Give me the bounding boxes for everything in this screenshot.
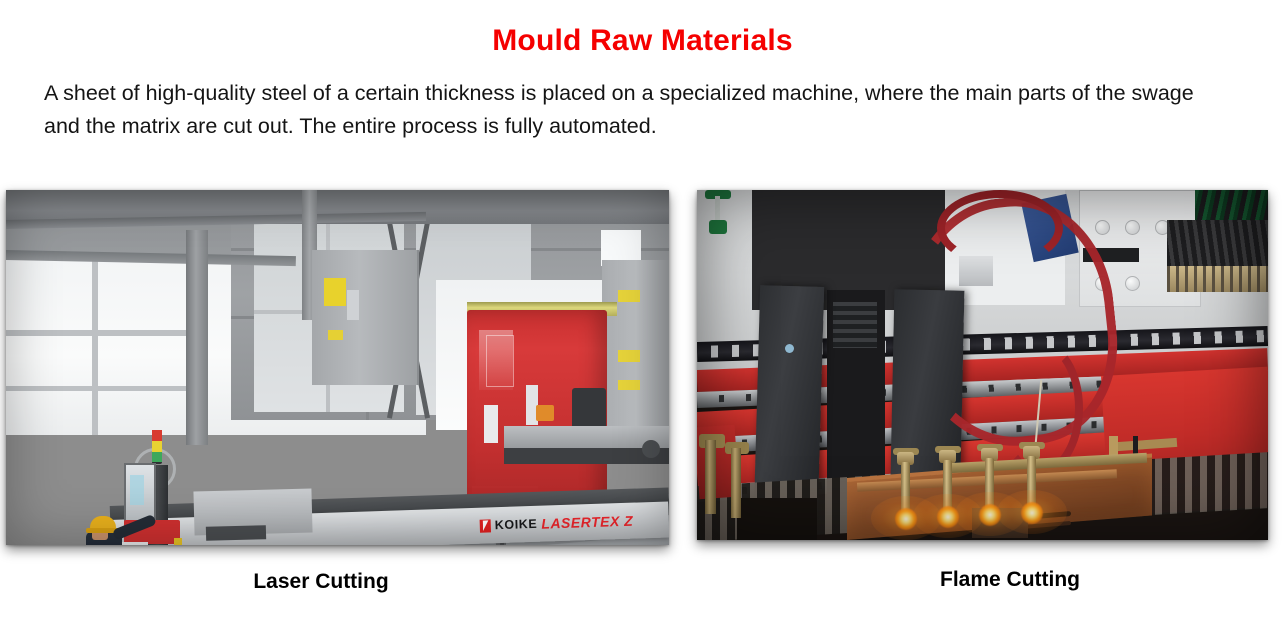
- housing-access-door: [486, 335, 514, 387]
- cover-indicator-dot: [785, 344, 794, 353]
- cutting-torch: [731, 448, 741, 518]
- brand-model: LASERTEX Z: [541, 513, 633, 532]
- panel-knob[interactable]: [1125, 276, 1140, 291]
- panel-knob[interactable]: [1125, 220, 1140, 235]
- control-box: [572, 388, 606, 430]
- green-indicator-stem: [715, 196, 720, 222]
- table-shadow-block: [737, 498, 817, 540]
- window-mullion: [6, 386, 186, 391]
- window-mullion: [92, 260, 98, 435]
- laser-cutting-scene: KOIKE LASERTEX Z: [6, 190, 669, 545]
- photo-flame-cutting: [697, 190, 1268, 540]
- cabinet-label: [324, 278, 346, 306]
- console-screen-glow: [130, 475, 144, 505]
- warning-label: [618, 380, 640, 390]
- brand-name: KOIKE: [495, 517, 538, 532]
- page-title: Mould Raw Materials: [0, 24, 1285, 58]
- warning-label: [618, 350, 640, 362]
- caption-laser-cutting: Laser Cutting: [171, 570, 471, 594]
- cutting-flame: [979, 504, 1001, 526]
- photo-laser-cutting: KOIKE LASERTEX Z: [6, 190, 669, 545]
- flame-cutting-scene: [697, 190, 1268, 540]
- cutting-flame: [1021, 502, 1043, 524]
- rail-wheel: [642, 440, 660, 458]
- terminal-pins: [1167, 266, 1268, 292]
- cutting-torch: [705, 440, 716, 514]
- housing-sticker: [536, 405, 554, 421]
- caption-flame-cutting: Flame Cutting: [860, 568, 1160, 592]
- safety-post: [174, 538, 182, 545]
- machine-brand-plate: KOIKE LASERTEX Z: [479, 511, 633, 536]
- description-text: A sheet of high-quality steel of a certa…: [44, 77, 1204, 143]
- carriage-underside: [206, 525, 266, 541]
- signal-lamp-green: [152, 452, 162, 462]
- machine-body-grey: [602, 260, 669, 430]
- housing-label: [484, 405, 498, 443]
- structural-pillar: [186, 230, 208, 445]
- warning-label: [618, 290, 640, 302]
- red-hose-loop: [937, 190, 1063, 266]
- machine-cabinet: [312, 250, 419, 385]
- cabinet-door: [347, 290, 359, 320]
- koike-logo-icon: [480, 519, 491, 532]
- cutting-flame: [937, 506, 959, 528]
- green-indicator-base: [709, 220, 727, 234]
- cabinet-label: [328, 330, 343, 340]
- cable-harness-black: [1167, 220, 1268, 272]
- signal-lamp-red: [152, 430, 162, 441]
- interior-rack: [833, 302, 877, 348]
- panel-knob[interactable]: [1095, 220, 1110, 235]
- slide-root: Mould Raw Materials A sheet of high-qual…: [0, 0, 1285, 619]
- red-hose-loop: [997, 340, 1083, 476]
- cutting-flame: [895, 508, 917, 530]
- console-cabinet: [118, 542, 148, 545]
- signal-lamp-yellow: [152, 441, 162, 452]
